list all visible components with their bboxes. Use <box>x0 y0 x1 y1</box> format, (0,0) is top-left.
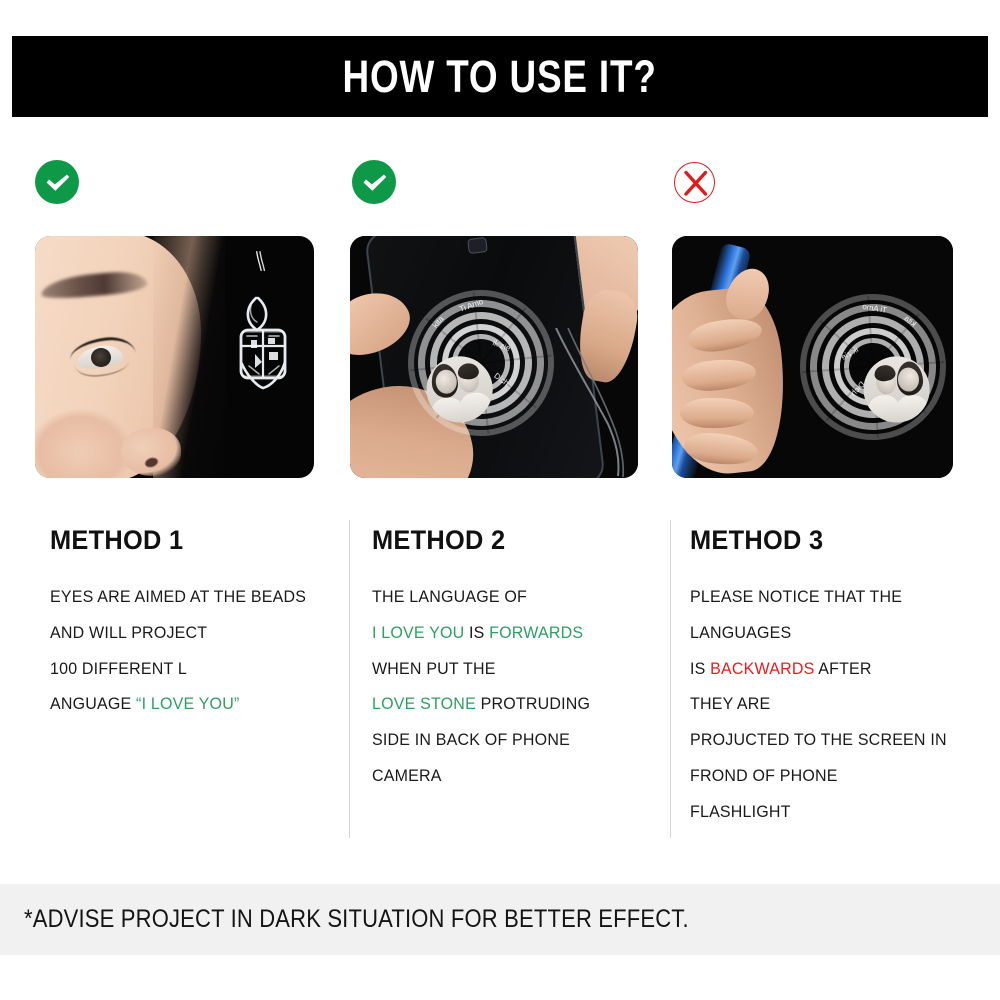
photo-1-content <box>35 236 314 478</box>
line-segment: IS <box>690 660 710 678</box>
photo-2-content: Ti Amo ik zie Dich kita <box>350 236 638 478</box>
line-segment: PROTRUDING <box>476 695 590 713</box>
line-segment: FROND OF PHONE <box>690 767 838 785</box>
method-line: I LOVE YOU IS FORWARDS <box>372 616 632 652</box>
line-segment: 100 DIFFERENT L <box>50 660 187 678</box>
method-line: SIDE IN BACK OF PHONE <box>372 723 632 759</box>
method-line: CAMERA <box>372 759 632 795</box>
method-3-title: METHOD 3 <box>690 527 946 554</box>
svg-text:kita: kita <box>902 313 918 328</box>
status-icon-method-1 <box>35 160 79 204</box>
line-segment-highlight: LOVE STONE <box>372 695 476 713</box>
method-2-title: METHOD 2 <box>372 527 624 554</box>
footer-band: *ADVISE PROJECT IN DARK SITUATION FOR BE… <box>0 884 1000 955</box>
method-line: LOVE STONE PROTRUDING <box>372 687 632 723</box>
line-segment: THEY ARE <box>690 695 770 713</box>
svg-text:ik zie: ik zie <box>491 338 512 353</box>
phone-camera-icon <box>467 237 488 254</box>
line-segment: CAMERA <box>372 767 442 785</box>
language-projection-disc-mirrored: Ti Amo ik zie Dich kita <box>793 287 953 447</box>
method-line: WHEN PUT THE <box>372 652 632 688</box>
language-projection-disc: Ti Amo ik zie Dich kita <box>399 281 564 446</box>
photo-3-content: Ti Amo ik zie Dich kita <box>672 236 953 478</box>
method-line: THEY ARE <box>690 687 954 723</box>
nose-tip <box>121 428 181 476</box>
method-line: THE LANGUAGE OF <box>372 580 632 616</box>
footer-note: *ADVISE PROJECT IN DARK SITUATION FOR BE… <box>24 905 689 934</box>
method-1-lines: EYES ARE AIMED AT THE BEADS AND WILL PRO… <box>50 580 312 723</box>
line-segment: ANGUAGE <box>50 695 136 713</box>
method-line: FLASHLIGHT <box>690 795 954 831</box>
method-line: PLEASE NOTICE THAT THE <box>690 580 954 616</box>
method-block-3: METHOD 3 PLEASE NOTICE THAT THE LANGUAGE… <box>690 527 962 831</box>
photo-method-1 <box>35 236 314 478</box>
method-line: IS BACKWARDS AFTER <box>690 652 954 688</box>
line-segment: SIDE IN BACK OF PHONE <box>372 731 570 749</box>
couple-photo-inset <box>861 354 931 424</box>
line-segment: PROJUCTED TO THE SCREEN IN <box>690 731 947 749</box>
column-divider-2 <box>670 520 671 838</box>
line-segment-highlight: BACKWARDS <box>710 660 814 678</box>
line-segment: THE LANGUAGE OF <box>372 588 527 606</box>
method-line: LANGUAGES <box>690 616 954 652</box>
method-line: FROND OF PHONE <box>690 759 954 795</box>
method-1-title: METHOD 1 <box>50 527 296 554</box>
line-segment-highlight: FORWARDS <box>489 624 583 642</box>
line-segment: FLASHLIGHT <box>690 803 791 821</box>
method-line: EYES ARE AIMED AT THE BEADS <box>50 580 304 616</box>
line-segment: AFTER <box>814 660 871 678</box>
line-segment-highlight: “I LOVE YOU” <box>136 695 239 713</box>
finger-3 <box>680 398 754 428</box>
photo-method-2: Ti Amo ik zie Dich kita <box>350 236 638 478</box>
column-divider-1 <box>349 520 350 838</box>
check-icon <box>352 160 396 204</box>
line-segment-highlight: I LOVE YOU <box>372 624 464 642</box>
method-3-lines: PLEASE NOTICE THAT THE LANGUAGES IS BACK… <box>690 580 962 831</box>
svg-text:kita: kita <box>431 314 446 330</box>
svg-text:Ti Amo: Ti Amo <box>861 302 887 315</box>
couple-photo-inset <box>423 353 496 426</box>
line-segment: LANGUAGES <box>690 624 791 642</box>
line-segment: IS <box>464 624 489 642</box>
method-line: AND WILL PROJECT <box>50 616 304 652</box>
method-line: PROJUCTED TO THE SCREEN IN <box>690 723 954 759</box>
page-title: HOW TO USE IT? <box>343 54 657 99</box>
check-icon <box>35 160 79 204</box>
svg-text:ik zie: ik zie <box>839 345 860 362</box>
method-block-2: METHOD 2 THE LANGUAGE OF I LOVE YOU IS F… <box>372 527 640 795</box>
heart-cage-pendant-icon <box>221 292 307 428</box>
line-segment: WHEN PUT THE <box>372 660 496 678</box>
line-segment: PLEASE NOTICE THAT THE <box>690 588 902 606</box>
line-segment: EYES ARE AIMED AT THE BEADS <box>50 588 306 606</box>
status-icon-method-2 <box>352 160 396 204</box>
svg-text:Ti Amo: Ti Amo <box>458 297 485 314</box>
cross-icon <box>674 162 715 203</box>
line-segment: AND WILL PROJECT <box>50 624 207 642</box>
status-icon-method-3 <box>674 162 718 206</box>
method-line: ANGUAGE “I LOVE YOU” <box>50 687 304 723</box>
photo-method-3: Ti Amo ik zie Dich kita <box>672 236 953 478</box>
method-block-1: METHOD 1 EYES ARE AIMED AT THE BEADS AND… <box>50 527 312 723</box>
method-line: 100 DIFFERENT L <box>50 652 304 688</box>
header-banner: HOW TO USE IT? <box>12 36 988 117</box>
method-2-lines: THE LANGUAGE OF I LOVE YOU IS FORWARDS W… <box>372 580 640 795</box>
necklace-chain-icon <box>546 328 632 478</box>
